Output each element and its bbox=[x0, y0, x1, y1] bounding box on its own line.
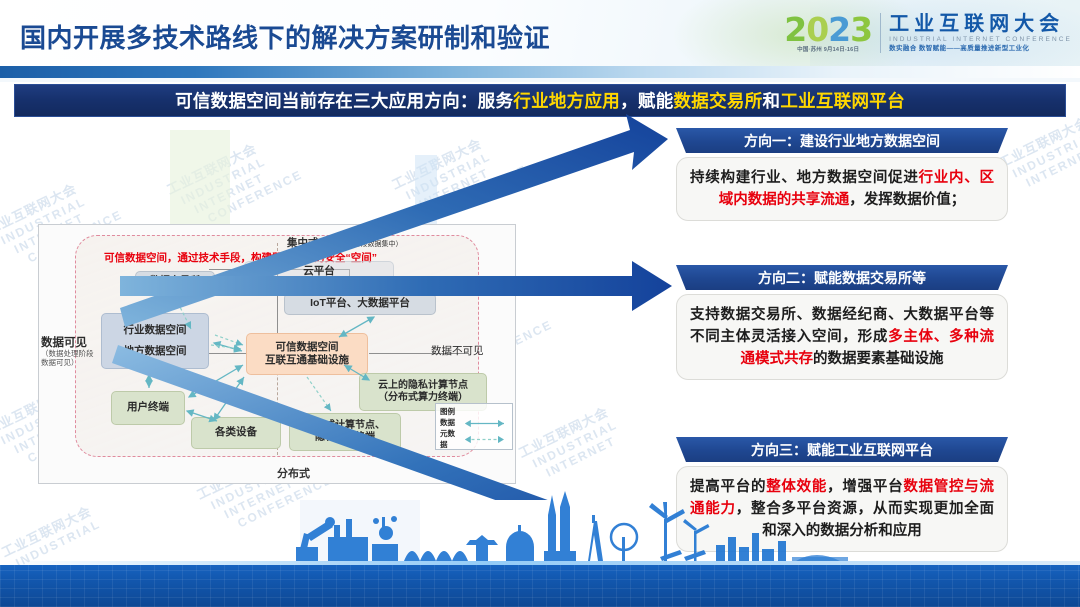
card1-seg1: 持续构建行业、地方数据空间促进 bbox=[690, 170, 919, 186]
legend-title: 图例 bbox=[440, 407, 508, 418]
card1-seg3: ，发挥数据价值； bbox=[849, 192, 965, 208]
direction-card-1-body: 持续构建行业、地方数据空间促进行业内、区域内数据的共享流通，发挥数据价值； bbox=[676, 157, 1008, 221]
header-divider-bar bbox=[0, 66, 1080, 78]
legend-data-arrow bbox=[462, 420, 508, 427]
direction-card-2-body: 支持数据交易所、数据经纪商、大数据平台等不同主体灵活接入空间，形成多主体、多种流… bbox=[676, 294, 1008, 380]
legend-metadata-arrow bbox=[462, 436, 508, 443]
logo-year-block: 2023 中国·苏州 9月14日-16日 bbox=[784, 13, 872, 54]
legend-data-label: 数据 bbox=[440, 418, 459, 429]
skyline-wind-turbine bbox=[664, 519, 667, 561]
title-banner: 可信数据空间当前存在三大应用方向：服务行业地方应用，赋能数据交易所和工业互联网平… bbox=[14, 84, 1066, 117]
card2-seg3: 的数据要素基础设施 bbox=[813, 351, 944, 367]
legend-row-metadata: 元数据 bbox=[440, 429, 508, 451]
header-divider-bar-2 bbox=[0, 78, 1080, 82]
skyline-bridge bbox=[404, 551, 468, 561]
logo-slogan: 数实融合 数智赋能——高质量推进新型工业化 bbox=[889, 46, 1072, 53]
page-title: 国内开展多技术路线下的解决方案研制和验证 bbox=[20, 18, 550, 55]
diagram-legend: 图例 数据 元数据 bbox=[435, 403, 513, 450]
title-banner-text: 可信数据空间当前存在三大应用方向：服务行业地方应用，赋能数据交易所和工业互联网平… bbox=[175, 88, 905, 113]
legend-row-data: 数据 bbox=[440, 418, 508, 429]
legend-metadata-label: 元数据 bbox=[440, 429, 459, 451]
direction-card-1-header: 方向一：建设行业地方数据空间 bbox=[676, 128, 1008, 153]
slide-root: 工业互联网大会 INDUSTRIAL INTERNET CONFERENCE 工… bbox=[0, 0, 1080, 607]
logo-year-subtitle: 中国·苏州 9月14日-16日 bbox=[784, 48, 872, 54]
skyline-lattice-tower bbox=[588, 521, 603, 561]
direction-card-1: 方向一：建设行业地方数据空间 持续构建行业、地方数据空间促进行业内、区域内数据的… bbox=[676, 128, 1008, 221]
skyline-solar-panel bbox=[660, 550, 682, 561]
direction-card-2: 方向二：赋能数据交易所等 支持数据交易所、数据经纪商、大数据平台等不同主体灵活接… bbox=[676, 265, 1008, 380]
skyline-dome bbox=[506, 531, 534, 561]
skyline-pagoda bbox=[470, 535, 494, 561]
direction-card-2-header: 方向二：赋能数据交易所等 bbox=[676, 265, 1008, 290]
footer-band bbox=[0, 565, 1080, 607]
skyline-factory bbox=[328, 537, 368, 561]
footer-skyline bbox=[0, 489, 1080, 569]
trusted-data-space-diagram: 集中式（数据处理阶段数据集中） 可信数据空间，通过技术手段，构建数据流通的安全“… bbox=[38, 224, 516, 484]
logo-year: 2023 bbox=[784, 13, 872, 46]
skyline-building bbox=[716, 545, 725, 561]
direction-card-3-header: 方向三：赋能工业互联网平台 bbox=[676, 437, 1008, 462]
logo-conference-name-cn: 工业互联网大会 bbox=[889, 14, 1072, 34]
logo-text-block: 工业互联网大会 INDUSTRIAL INTERNET CONFERENCE 数… bbox=[889, 14, 1072, 53]
conference-logo: 2023 中国·苏州 9月14日-16日 工业互联网大会 INDUSTRIAL … bbox=[784, 6, 1072, 60]
logo-conference-name-en: INDUSTRIAL INTERNET CONFERENCE bbox=[889, 37, 1072, 44]
logo-divider bbox=[880, 13, 881, 53]
